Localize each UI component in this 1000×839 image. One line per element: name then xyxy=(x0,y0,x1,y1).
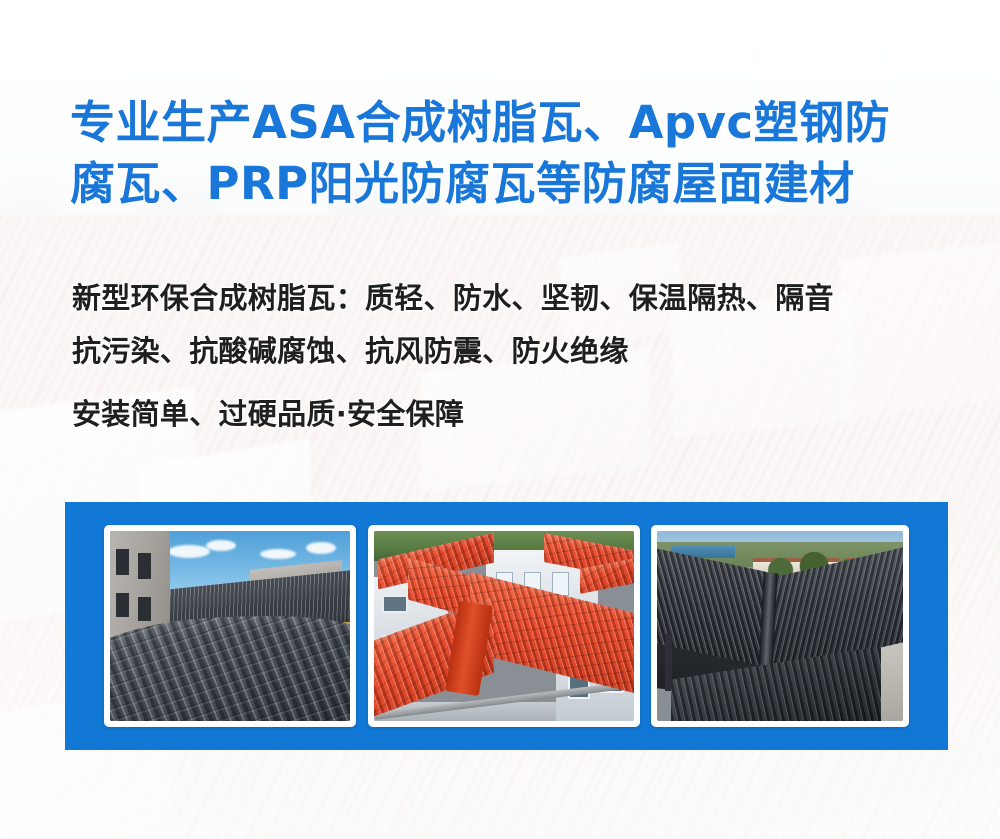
headline-line-1: 专业生产ASA合成树脂瓦、Apvc塑钢防 xyxy=(70,92,950,153)
feature-line-2: 抗污染、抗酸碱腐蚀、抗风防震、防火绝缘 xyxy=(72,325,952,378)
red-resin-tile-roof-photo xyxy=(374,531,634,721)
feature-line-1: 新型环保合成树脂瓦：质轻、防水、坚韧、保温隔热、隔音 xyxy=(72,272,952,325)
feature-list: 新型环保合成树脂瓦：质轻、防水、坚韧、保温隔热、隔音 抗污染、抗酸碱腐蚀、抗风防… xyxy=(72,272,952,441)
photo-frame-2[interactable] xyxy=(368,525,640,727)
photo-frame-1[interactable] xyxy=(104,525,356,727)
headline-line-2: 腐瓦、PRP阳光防腐瓦等防腐屋面建材 xyxy=(70,153,950,214)
black-resin-tile-roof-photo xyxy=(657,531,903,721)
promo-banner: 专业生产ASA合成树脂瓦、Apvc塑钢防 腐瓦、PRP阳光防腐瓦等防腐屋面建材 … xyxy=(0,0,1000,839)
page-title: 专业生产ASA合成树脂瓦、Apvc塑钢防 腐瓦、PRP阳光防腐瓦等防腐屋面建材 xyxy=(70,92,950,214)
feature-line-3: 安装简单、过硬品质·安全保障 xyxy=(72,388,952,441)
grey-resin-tile-roof-photo xyxy=(110,531,350,721)
photo-frame-3[interactable] xyxy=(651,525,909,727)
photo-gallery-panel xyxy=(65,502,948,750)
